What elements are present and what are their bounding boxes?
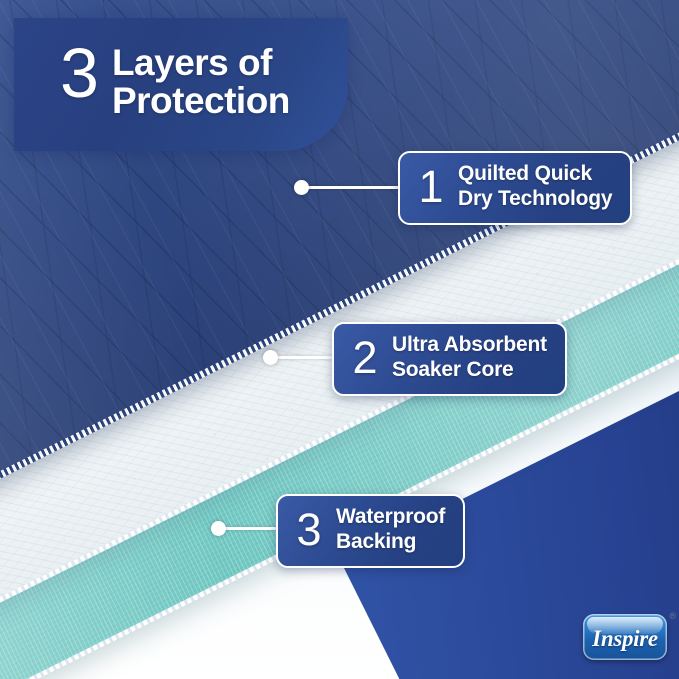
callout-2-text: Ultra Absorbent Soaker Core [392, 333, 547, 383]
leader-dot-3 [211, 521, 226, 536]
leader-line-3 [220, 527, 280, 530]
infographic-canvas: 3 Layers of Protection 1 Quilted Quick D… [0, 0, 679, 679]
callout-1-number: 1 [418, 164, 444, 209]
page-title: Layers of Protection [112, 39, 290, 121]
callout-1-line-2: Dry Technology [458, 187, 612, 212]
callout-3-line-2: Backing [336, 530, 445, 555]
callout-quilted-quick-dry: 1 Quilted Quick Dry Technology [398, 151, 632, 225]
callout-2-line-2: Soaker Core [392, 358, 547, 383]
title-panel: 3 Layers of Protection [14, 18, 348, 151]
callout-1-text: Quilted Quick Dry Technology [458, 162, 612, 212]
title-line-1: Layers of [112, 44, 290, 82]
logo-wordmark: Inspire [583, 614, 667, 660]
callout-3-text: Waterproof Backing [336, 505, 445, 555]
title-number: 3 [60, 39, 98, 108]
callout-ultra-absorbent-soaker-core: 2 Ultra Absorbent Soaker Core [332, 322, 567, 396]
leader-line-2 [272, 356, 336, 359]
callout-1-line-1: Quilted Quick [458, 162, 612, 187]
callout-waterproof-backing: 3 Waterproof Backing [276, 494, 465, 568]
brand-logo: Inspire ® [583, 614, 667, 660]
title-line-2: Protection [112, 82, 290, 120]
callout-3-line-1: Waterproof [336, 505, 445, 530]
leader-dot-1 [294, 180, 309, 195]
callout-2-line-1: Ultra Absorbent [392, 333, 547, 358]
callout-2-number: 2 [352, 335, 378, 380]
leader-line-1 [303, 186, 401, 189]
title-content: 3 Layers of Protection [60, 39, 330, 121]
registered-trademark-icon: ® [669, 611, 676, 621]
callout-3-number: 3 [296, 507, 322, 552]
leader-dot-2 [263, 350, 278, 365]
